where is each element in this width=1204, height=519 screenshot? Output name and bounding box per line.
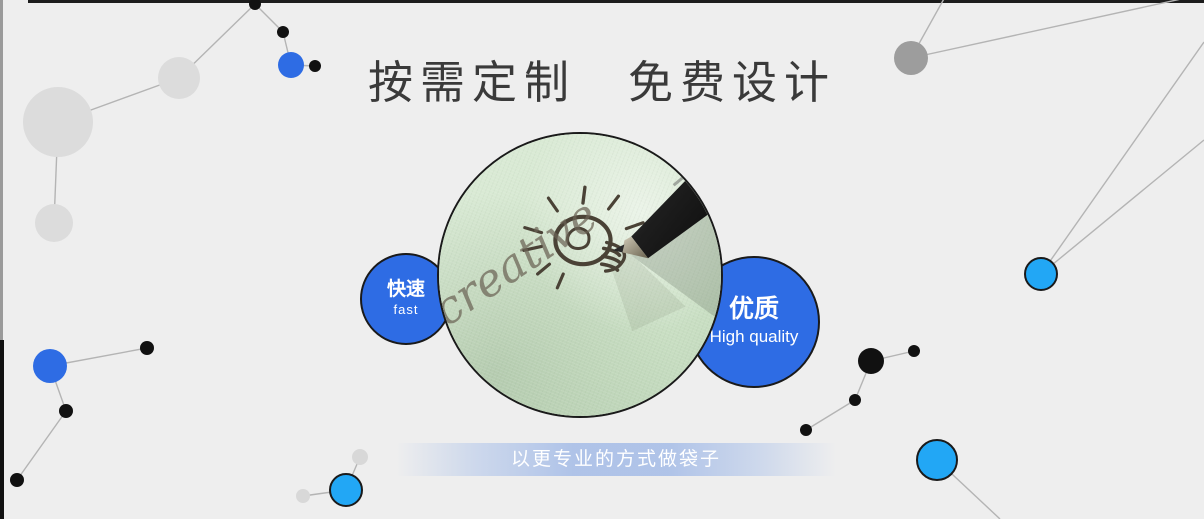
feature-fast-label-cn: 快速 (387, 279, 425, 301)
network-node (330, 474, 362, 506)
promo-banner: 按需定制 免费设计 快速 fast 优质 High quality (0, 0, 1204, 519)
feature-quality-label-cn: 优质 (729, 294, 779, 324)
feature-quality-label-en: High quality (710, 324, 799, 350)
network-edge (54, 122, 58, 223)
network-node (140, 341, 154, 355)
network-edge (871, 351, 914, 361)
network-node (296, 489, 310, 503)
network-edge (937, 460, 1000, 519)
network-node (800, 424, 812, 436)
network-node (10, 473, 24, 487)
network-edge (50, 366, 66, 411)
network-node (59, 404, 73, 418)
network-node (1025, 258, 1057, 290)
network-node (33, 349, 67, 383)
left-black-edge (0, 340, 4, 519)
network-edge (806, 400, 855, 430)
network-node (277, 26, 289, 38)
feature-fast-label-en: fast (394, 301, 419, 319)
tagline-text: 以更专业的方式做袋子 (396, 446, 836, 473)
network-edge (17, 411, 66, 480)
top-dark-rule (28, 0, 1204, 3)
network-node (849, 394, 861, 406)
network-node (908, 345, 920, 357)
network-edge (50, 348, 147, 366)
page-title: 按需定制 免费设计 (0, 46, 1204, 111)
network-edge (1041, 140, 1204, 274)
network-node (35, 204, 73, 242)
photo-illustration: creative (439, 134, 721, 416)
creative-photo-circle: creative (437, 132, 723, 418)
network-node (352, 449, 368, 465)
network-node (858, 348, 884, 374)
network-edge (855, 361, 871, 400)
network-edge (255, 4, 283, 32)
network-edge (303, 490, 346, 496)
network-edge (346, 457, 360, 490)
network-node (917, 440, 957, 480)
